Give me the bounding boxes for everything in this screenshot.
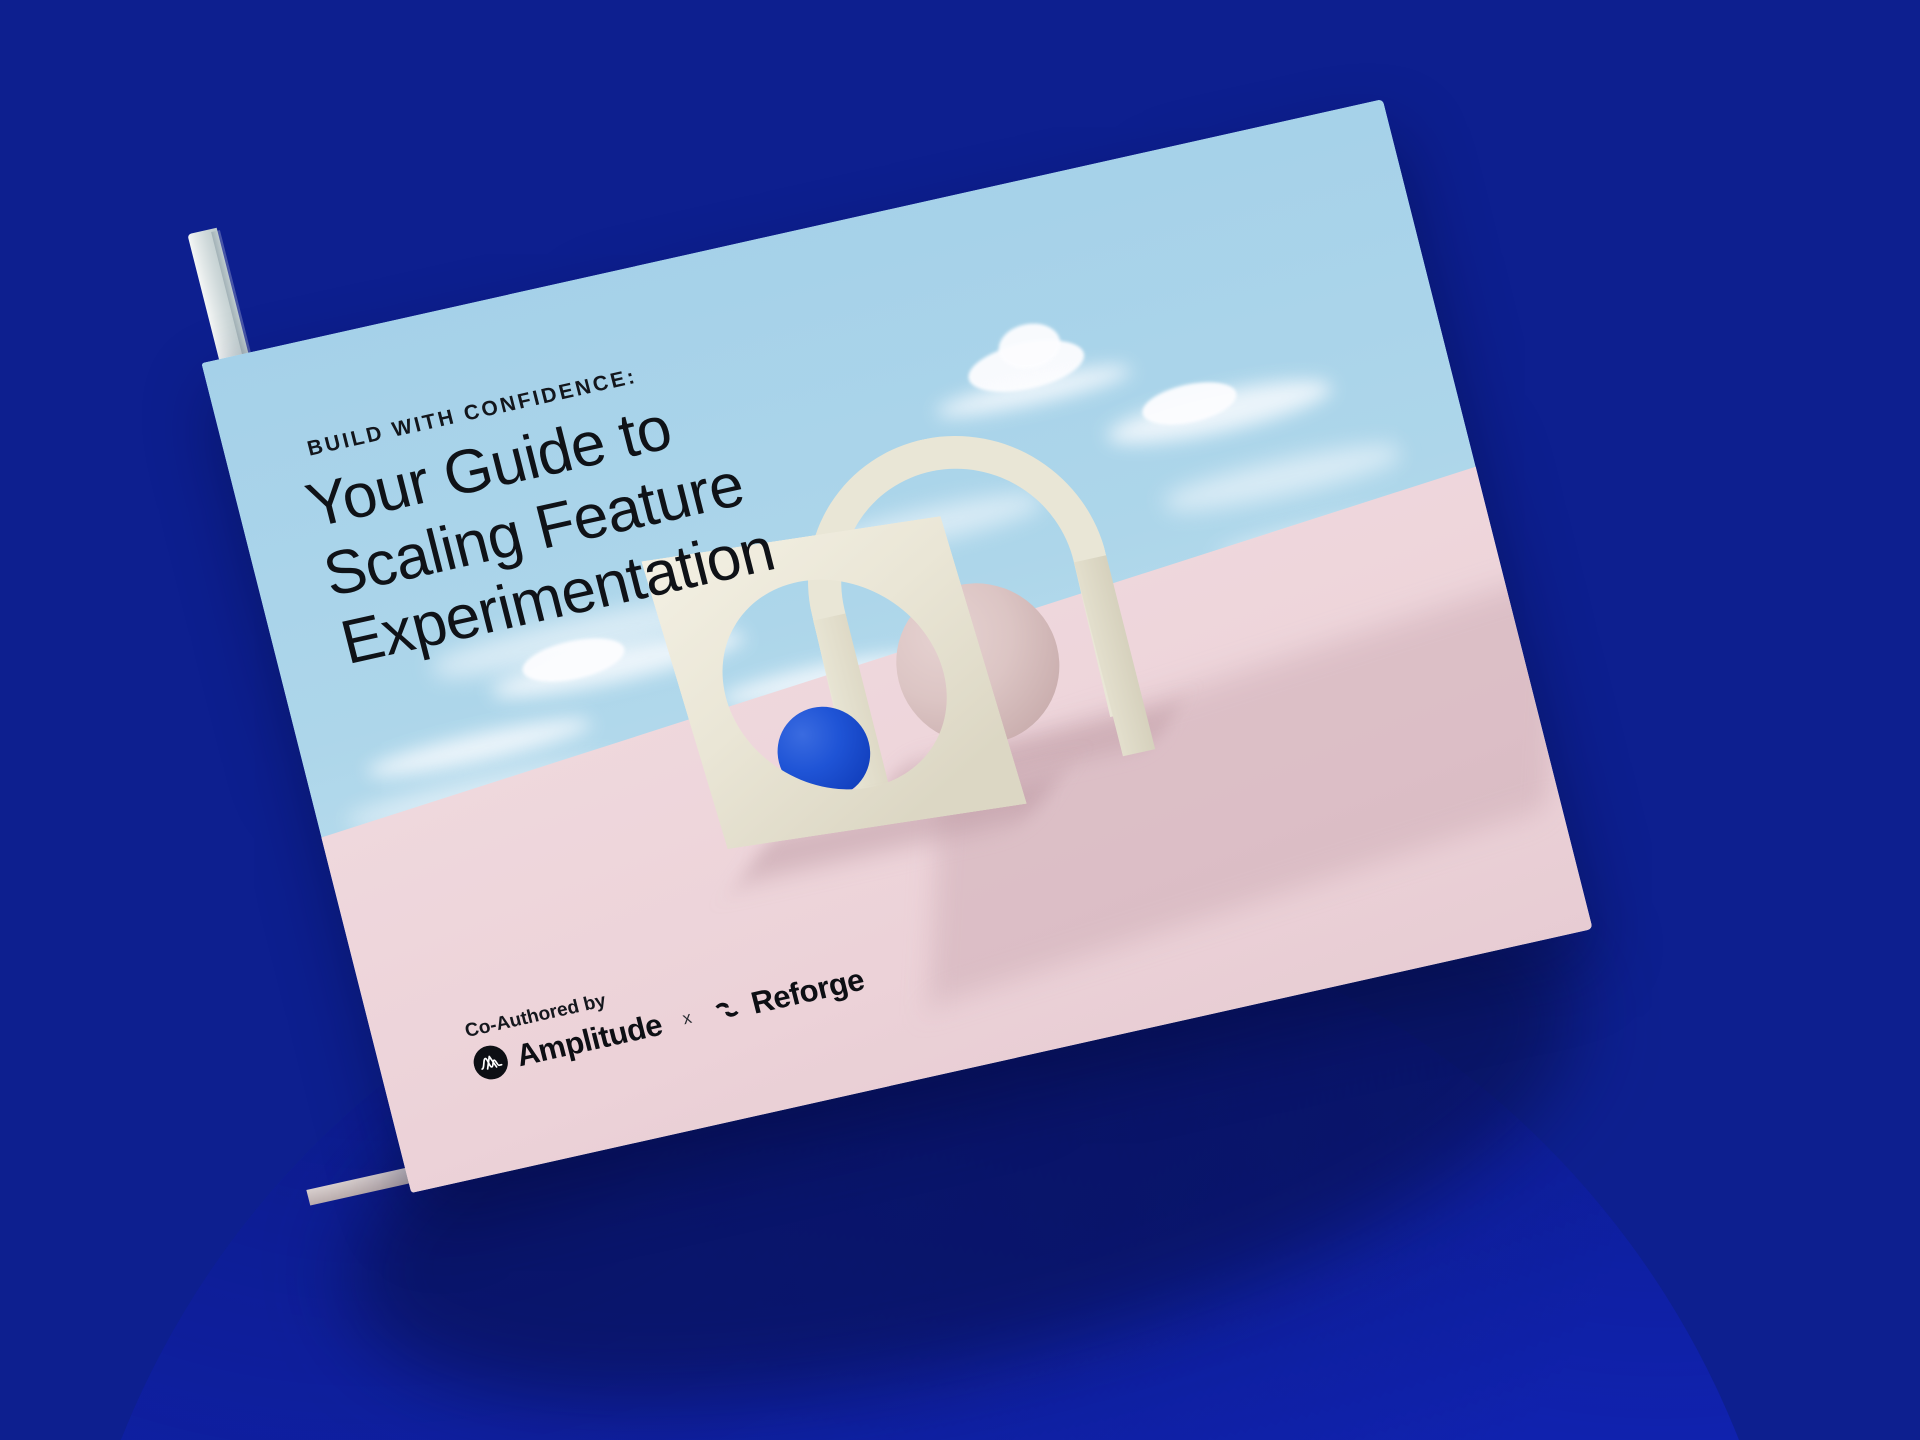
amplitude-logo-icon xyxy=(470,1042,512,1082)
reforge-logo-icon xyxy=(709,992,746,1028)
ebook-cover-hero: BUILD WITH CONFIDENCE: Your Guide to Sca… xyxy=(0,0,1920,1440)
brand-separator: x xyxy=(681,1008,694,1029)
